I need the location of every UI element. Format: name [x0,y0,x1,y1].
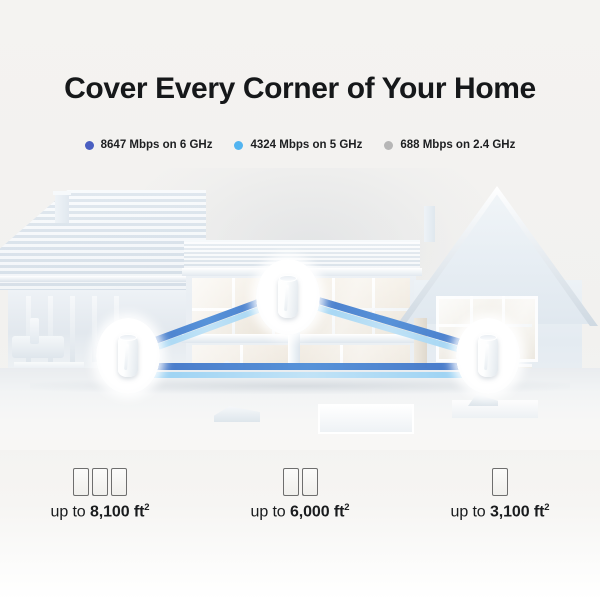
router-unit-top [479,334,497,341]
router-device-icon [302,468,318,496]
router-unit-top [119,334,137,341]
router-unit-highlight [284,285,289,311]
router-unit-highlight [484,344,489,370]
coverage-value: 8,100 ft [90,503,144,520]
legend-item-6ghz: 8647 Mbps on 6 GHz [85,139,213,151]
mesh-unit-center[interactable] [256,259,320,335]
porch-plant [30,318,39,344]
router-unit-top [279,275,297,282]
legend-label-24ghz: 688 Mbps on 2.4 GHz [400,139,515,151]
coverage-column-1-pack: up to 3,100 ft2 [400,462,600,521]
left-wing-roof-shingles [0,190,206,290]
chimney-cap [53,191,71,195]
coverage-value: 3,100 ft [490,503,544,520]
router-unit-highlight [124,344,129,370]
legend-dot-5ghz [234,141,243,150]
router-device-icon [73,468,89,496]
legend-dot-6ghz [85,141,94,150]
signal-beam-left-right-5ghz [128,372,488,378]
mesh-unit-left[interactable] [96,318,160,394]
coverage-lead: up to [451,503,490,520]
device-count-icons-1 [492,462,508,496]
left-wing-roof-eave [0,276,206,282]
device-count-icons-2 [283,462,318,496]
coverage-column-2-pack: up to 6,000 ft2 [200,462,400,521]
house-illustration [0,168,600,450]
router-device-icon [111,468,127,496]
gable-chimney [424,206,435,242]
coverage-lead: up to [251,503,290,520]
pool [318,404,414,434]
coverage-row: up to 8,100 ft2 up to 6,000 ft2 up to 3,… [0,462,600,521]
router-device-icon [283,468,299,496]
legend-label-6ghz: 8647 Mbps on 6 GHz [101,139,213,151]
porch-column [70,296,75,362]
coverage-lead: up to [51,503,90,520]
coverage-unit-sup: 2 [544,502,549,513]
coverage-value: 6,000 ft [290,503,344,520]
device-count-icons-3 [73,462,127,496]
router-device-icon [92,468,108,496]
center-floor-slab [182,334,422,343]
router-unit-icon [478,335,498,377]
legend-item-5ghz: 4324 Mbps on 5 GHz [234,139,362,151]
chimney [55,193,69,223]
router-unit-icon [278,276,298,318]
coverage-column-3-pack: up to 8,100 ft2 [0,462,200,521]
coverage-label-3-pack: up to 8,100 ft2 [51,502,150,521]
legend-dot-24ghz [384,141,393,150]
speed-legend: 8647 Mbps on 6 GHz 4324 Mbps on 5 GHz 68… [0,139,600,151]
mesh-unit-right[interactable] [456,318,520,394]
legend-item-24ghz: 688 Mbps on 2.4 GHz [384,139,515,151]
router-unit-icon [118,335,138,377]
page-title: Cover Every Corner of Your Home [0,72,600,105]
coverage-label-2-pack: up to 6,000 ft2 [251,502,350,521]
coverage-label-1-pack: up to 3,100 ft2 [451,502,550,521]
coverage-unit-sup: 2 [344,502,349,513]
router-device-icon [492,468,508,496]
signal-beam-left-right-6ghz [128,363,488,370]
coverage-unit-sup: 2 [144,502,149,513]
legend-label-5ghz: 4324 Mbps on 5 GHz [250,139,362,151]
promo-banner: Cover Every Corner of Your Home 8647 Mbp… [0,0,600,600]
